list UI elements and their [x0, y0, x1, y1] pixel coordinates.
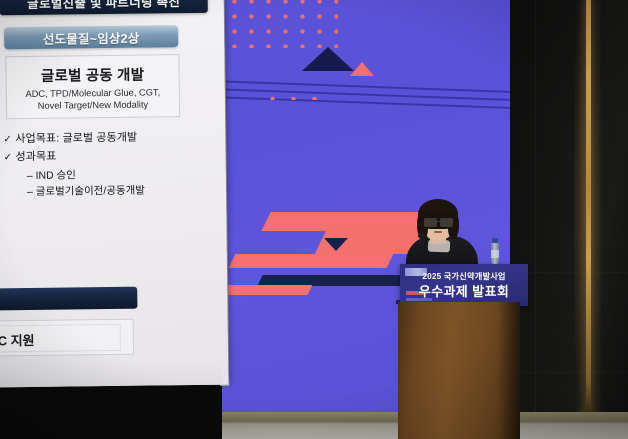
slide-sub-bullet: – IND 승인 [27, 167, 204, 183]
backdrop-coral-band-4 [222, 285, 312, 295]
water-bottle-cap [492, 238, 498, 243]
slide-card-subtitle-line2: Novel Target/New Modality [7, 98, 179, 112]
wall-seam-vertical-1 [535, 0, 536, 439]
podium-shadow [498, 302, 520, 439]
microphone-icon [418, 232, 425, 239]
projection-screen: 글로벌진출 및 파트너링 촉진 선도물질~임상2상 글로벌 공동 개발 ADC,… [0, 0, 228, 387]
slide-header-banner: 글로벌진출 및 파트너링 촉진 [0, 0, 208, 15]
speaker-mouth [434, 231, 442, 233]
backdrop-coral-band-3 [229, 254, 394, 268]
slide-card-subtitle: ADC, TPD/Molecular Glue, CGT, Novel Targ… [7, 86, 179, 112]
slide-header-text: 글로벌진출 및 파트너링 촉진 [27, 0, 180, 15]
slide-card-subtitle-line1: ADC, TPD/Molecular Glue, CGT, [7, 86, 179, 100]
backdrop-dot-row [262, 92, 324, 100]
conference-photo: 글로벌진출 및 파트너링 촉진 선도물질~임상2상 글로벌 공동 개발 ADC,… [0, 0, 628, 439]
water-bottle-label [491, 250, 499, 258]
podium-event-sign: 2025 국가신약개발사업 우수과제 발표회 [400, 264, 528, 306]
slide-stage-banner: 선도물질~임상2상 [4, 25, 178, 49]
checkmark-icon: ✓ [4, 151, 16, 164]
slide-stage-text: 선도물질~임상2상 [43, 27, 140, 47]
podium-sign-line2: 우수과제 발표회 [400, 281, 528, 300]
backdrop-down-triangle [324, 238, 348, 251]
slide-bullet-list: ✓ 사업목표: 글로벌 공동개발 ✓ 성과목표 – IND 승인 – 글로벌기술… [3, 131, 204, 201]
slide-sub-bullet: – 글로벌기술이전/공동개발 [27, 183, 204, 199]
slide-content-card: 글로벌 공동 개발 ADC, TPD/Molecular Glue, CGT, … [5, 54, 180, 119]
checkmark-icon: ✓ [3, 133, 15, 146]
slide-bullet-text: 사업목표: 글로벌 공동개발 [15, 132, 137, 146]
backdrop-dot-grid [226, 0, 338, 48]
backdrop-navy-triangle [302, 47, 354, 71]
slide-lower-card-text: MC 지원 [0, 329, 107, 349]
slide-bullet-item: ✓ 성과목표 [4, 149, 204, 164]
glasses-icon [424, 218, 452, 225]
slide-card-title: 글로벌 공동 개발 [6, 63, 178, 86]
slide-lower-header-banner [0, 287, 137, 311]
slide-bullet-text: 성과목표 [16, 151, 57, 164]
projection-screen-lower-area [0, 357, 222, 388]
slide-bullet-item: ✓ 사업목표: 글로벌 공동개발 [3, 131, 203, 146]
backdrop-coral-triangle [350, 62, 374, 76]
vertical-accent-light [586, 0, 591, 415]
slide-lower-card: MC 지원 [0, 319, 134, 357]
